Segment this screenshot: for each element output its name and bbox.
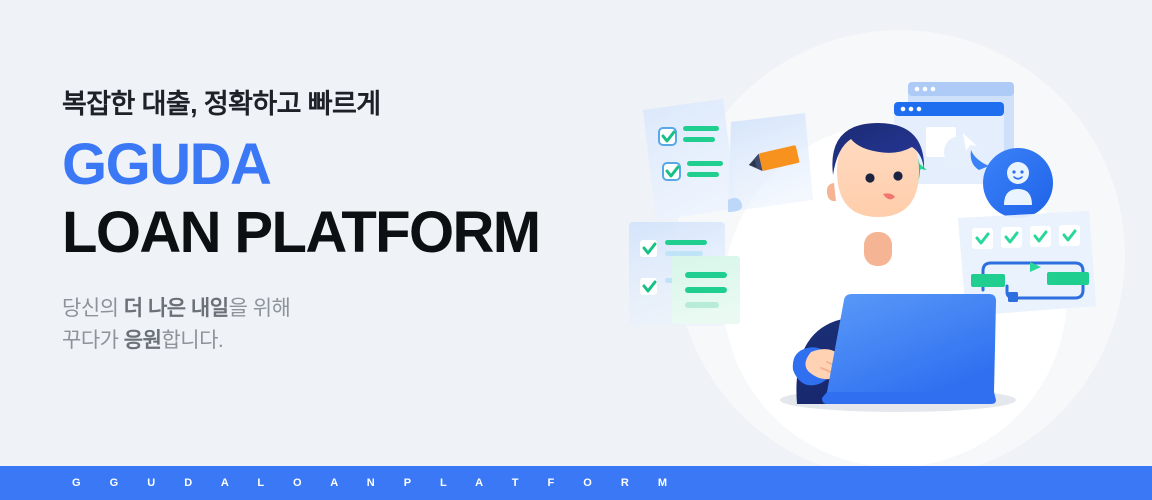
avatar-head-blue [1007, 162, 1029, 184]
person-eye-right [893, 171, 902, 180]
tagline-line-1-bold: 더 나은 내일 [124, 297, 229, 320]
laptop [822, 294, 996, 404]
hero-tagline: 당신의 더 나은 내일을 위해 꾸다가 응원합니다. [62, 293, 622, 357]
tagline-line-1-pre: 당신의 [62, 297, 124, 320]
hero-eyebrow: 복잡한 대출, 정확하고 빠르게 [62, 88, 622, 120]
pencil-document-card [728, 113, 813, 212]
ribbon-text: G G U D A L O A N P L A T F O R M [0, 477, 680, 489]
person-neck [864, 232, 892, 266]
tagline-line-2: 꾸다가 응원합니다. [62, 325, 622, 357]
tagline-line-1-post: 을 위해 [229, 297, 291, 320]
brand-title: GGUDA [62, 134, 622, 195]
mint-note-card [672, 256, 740, 324]
hero-banner: 복잡한 대출, 정확하고 빠르게 GGUDA LOAN PLATFORM 당신의… [0, 0, 1152, 500]
checklist-card-top-left [643, 99, 737, 221]
hero-copy-block: 복잡한 대출, 정확하고 빠르게 GGUDA LOAN PLATFORM 당신의… [62, 88, 622, 357]
tagline-line-2-pre: 꾸다가 [62, 329, 124, 352]
tagline-line-2-bold: 응원 [124, 329, 162, 352]
page-title: LOAN PLATFORM [62, 202, 622, 263]
hero-illustration [615, 0, 1152, 466]
person-eye-left [865, 173, 874, 182]
tagline-line-1: 당신의 더 나은 내일을 위해 [62, 293, 622, 325]
tagline-line-2-post: 합니다. [161, 329, 223, 352]
bottom-ribbon: G G U D A L O A N P L A T F O R M [0, 466, 1152, 500]
